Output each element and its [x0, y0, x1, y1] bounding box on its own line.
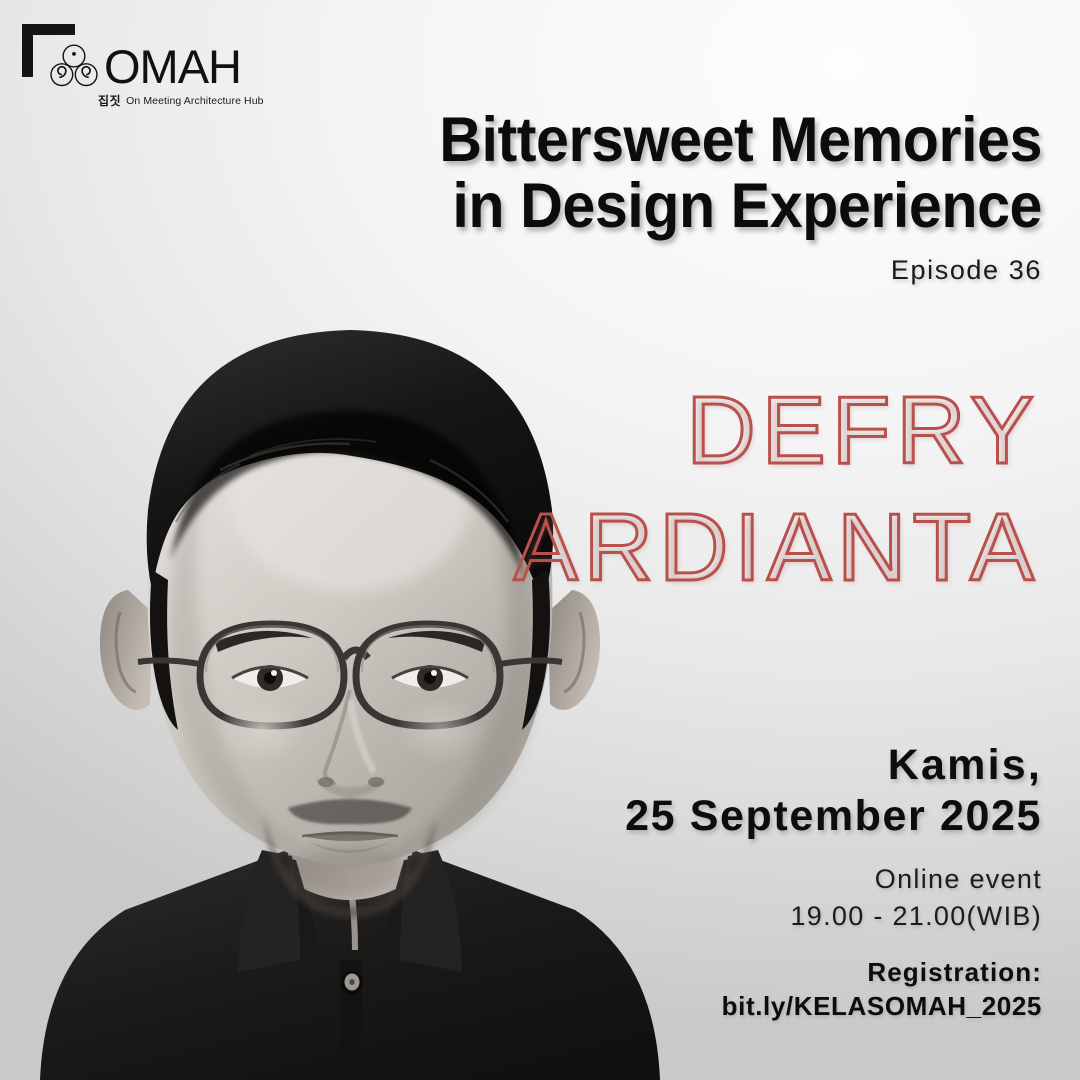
logo-tagline: On Meeting Architecture Hub — [126, 96, 264, 107]
omah-logo: OMAH 집짓 On Meeting Architecture Hub — [48, 40, 264, 107]
event-poster: OMAH 집짓 On Meeting Architecture Hub — [0, 0, 1080, 1080]
logo-row: OMAH — [48, 40, 241, 92]
logo-wordmark: OMAH — [104, 43, 241, 90]
episode-label: Episode 36 — [252, 255, 1042, 286]
event-meta: Online event 19.00 - 21.00(WIB) — [422, 861, 1042, 933]
event-format: Online event — [422, 861, 1042, 897]
registration-link[interactable]: bit.ly/KELASOMAH_2025 — [422, 990, 1042, 1024]
poster-title: Bittersweet Memories in Design Experienc… — [252, 108, 1042, 286]
registration-block: Registration: bit.ly/KELASOMAH_2025 — [422, 956, 1042, 1024]
event-details: Kamis, 25 September 2025 Online event 19… — [422, 740, 1042, 1023]
title-line-1: Bittersweet Memories — [299, 108, 1042, 174]
registration-label: Registration: — [422, 956, 1042, 990]
triskelion-spiral-icon — [48, 40, 100, 92]
title-line-2: in Design Experience — [299, 174, 1042, 240]
logo-cjk-mark: 집짓 — [98, 95, 121, 107]
event-time: 19.00 - 21.00(WIB) — [422, 898, 1042, 934]
logo-tagline-row: 집짓 On Meeting Architecture Hub — [98, 95, 264, 107]
event-day: Kamis, — [422, 740, 1042, 791]
event-date: 25 September 2025 — [422, 791, 1042, 842]
